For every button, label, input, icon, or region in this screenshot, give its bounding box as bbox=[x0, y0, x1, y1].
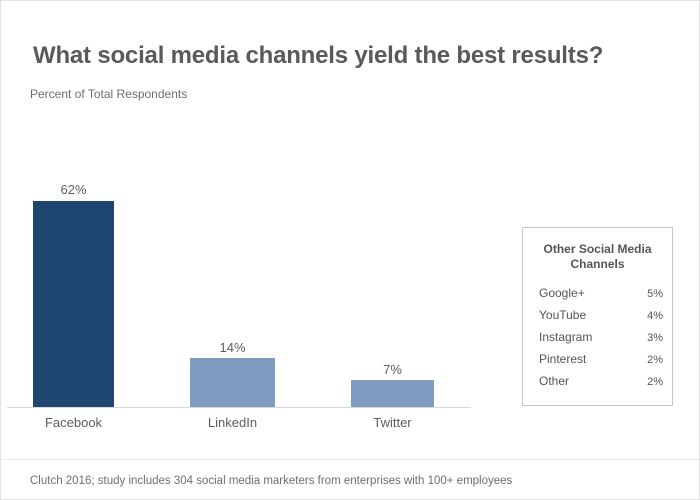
other-channel-value: 5% bbox=[647, 288, 663, 300]
other-channel-label: Google+ bbox=[539, 286, 585, 300]
list-item: Other 2% bbox=[539, 374, 663, 396]
other-channel-value: 3% bbox=[647, 332, 663, 344]
other-channel-label: Instagram bbox=[539, 330, 592, 344]
category-label-facebook: Facebook bbox=[23, 415, 124, 430]
other-channels-panel: Other Social Media Channels Google+ 5% Y… bbox=[522, 227, 673, 406]
footnote-divider bbox=[1, 459, 700, 460]
category-label-linkedin: LinkedIn bbox=[182, 415, 283, 430]
source-footnote: Clutch 2016; study includes 304 social m… bbox=[30, 475, 512, 487]
other-channel-value: 4% bbox=[647, 310, 663, 322]
list-item: Instagram 3% bbox=[539, 330, 663, 352]
bar-value-linkedin: 14% bbox=[190, 340, 275, 355]
list-item: Google+ 5% bbox=[539, 286, 663, 308]
category-label-twitter: Twitter bbox=[342, 415, 443, 430]
other-channel-label: Other bbox=[539, 374, 569, 388]
list-item: Pinterest 2% bbox=[539, 352, 663, 374]
other-channel-value: 2% bbox=[647, 354, 663, 366]
x-axis-line bbox=[7, 407, 471, 408]
other-channel-label: Pinterest bbox=[539, 352, 586, 366]
bar-facebook bbox=[33, 201, 114, 407]
bar-value-facebook: 62% bbox=[33, 182, 114, 197]
other-channel-label: YouTube bbox=[539, 308, 586, 322]
other-channel-value: 2% bbox=[647, 376, 663, 388]
bar-twitter bbox=[351, 380, 434, 407]
other-channels-list: Google+ 5% YouTube 4% Instagram 3% Pinte… bbox=[539, 286, 663, 396]
bar-linkedin bbox=[190, 358, 275, 407]
bar-value-twitter: 7% bbox=[351, 362, 434, 377]
list-item: YouTube 4% bbox=[539, 308, 663, 330]
other-channels-panel-title: Other Social Media Channels bbox=[537, 242, 658, 272]
chart-page: What social media channels yield the bes… bbox=[0, 0, 700, 500]
